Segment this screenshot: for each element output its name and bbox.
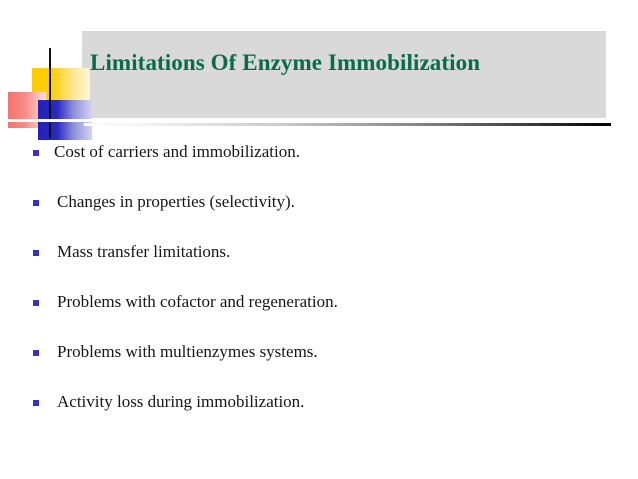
square-bullet-icon: [33, 400, 39, 406]
list-item-label: Activity loss during immobilization.: [57, 391, 304, 412]
list-item-label: Mass transfer limitations.: [57, 241, 230, 262]
square-bullet-icon: [33, 200, 39, 206]
vertical-bar-icon: [49, 48, 51, 138]
list-item: Cost of carriers and immobilization.: [0, 141, 638, 191]
square-bullet-icon: [33, 150, 39, 156]
list-item: Mass transfer limitations.: [0, 241, 638, 291]
list-item-label: Changes in properties (selectivity).: [57, 191, 295, 212]
square-bullet-icon: [33, 350, 39, 356]
bullet-list: Cost of carriers and immobilization. Cha…: [0, 141, 638, 441]
list-item: Problems with multienzymes systems.: [0, 341, 638, 391]
slide-title: Limitations Of Enzyme Immobilization: [90, 47, 490, 78]
white-sweep-line-icon: [2, 119, 98, 122]
title-underline-rule: [84, 123, 611, 126]
list-item-label: Cost of carriers and immobilization.: [54, 141, 300, 162]
list-item-label: Problems with multienzymes systems.: [57, 341, 318, 362]
list-item-label: Problems with cofactor and regeneration.: [57, 291, 338, 312]
square-bullet-icon: [33, 250, 39, 256]
list-item: Activity loss during immobilization.: [0, 391, 638, 441]
design-accent-graphic: [0, 36, 100, 148]
square-bullet-icon: [33, 300, 39, 306]
list-item: Problems with cofactor and regeneration.: [0, 291, 638, 341]
slide-canvas: Limitations Of Enzyme Immobilization Cos…: [0, 0, 638, 479]
list-item: Changes in properties (selectivity).: [0, 191, 638, 241]
